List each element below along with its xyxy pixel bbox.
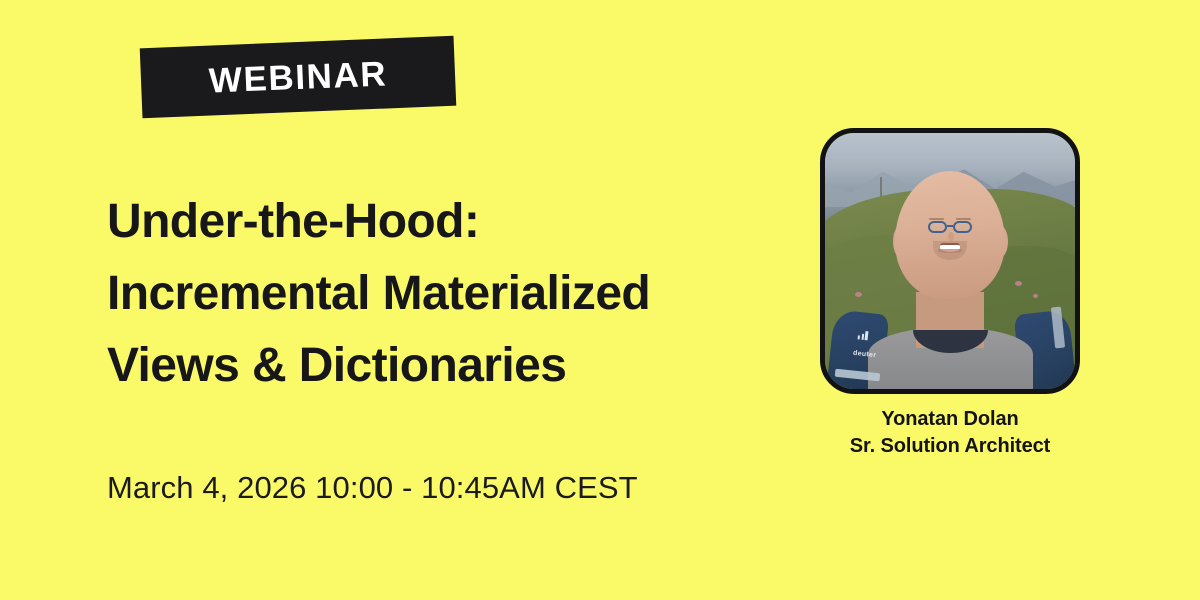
photo-lower-lip (938, 249, 961, 252)
photo-lens-right (953, 221, 972, 234)
speaker-caption: Yonatan Dolan Sr. Solution Architect (820, 406, 1080, 460)
photo-wildflower (855, 292, 862, 297)
photo-nose (948, 232, 954, 241)
webinar-banner: WEBINAR Under-the-Hood: Incremental Mate… (0, 0, 1200, 600)
photo-wildflower (1033, 294, 1038, 298)
title-line-2: Incremental Materialized (107, 258, 787, 330)
speaker-photo-frame: deuter (820, 128, 1080, 394)
webinar-badge: WEBINAR (140, 36, 457, 119)
webinar-badge-label: WEBINAR (208, 56, 388, 98)
photo-head (895, 171, 1005, 299)
title-line-3: Views & Dictionaries (107, 330, 787, 402)
photo-glasses-bridge (947, 225, 953, 227)
title-line-1: Under-the-Hood: (107, 186, 787, 258)
photo-lens-left (928, 221, 947, 234)
webinar-title: Under-the-Hood: Incremental Materialized… (107, 186, 787, 402)
photo-backpack-brand-mark (857, 331, 871, 341)
speaker-photo: deuter (825, 133, 1075, 389)
speaker-role: Sr. Solution Architect (820, 433, 1080, 460)
webinar-datetime: March 4, 2026 10:00 - 10:45AM CEST (107, 468, 638, 508)
speaker-name: Yonatan Dolan (820, 406, 1080, 433)
